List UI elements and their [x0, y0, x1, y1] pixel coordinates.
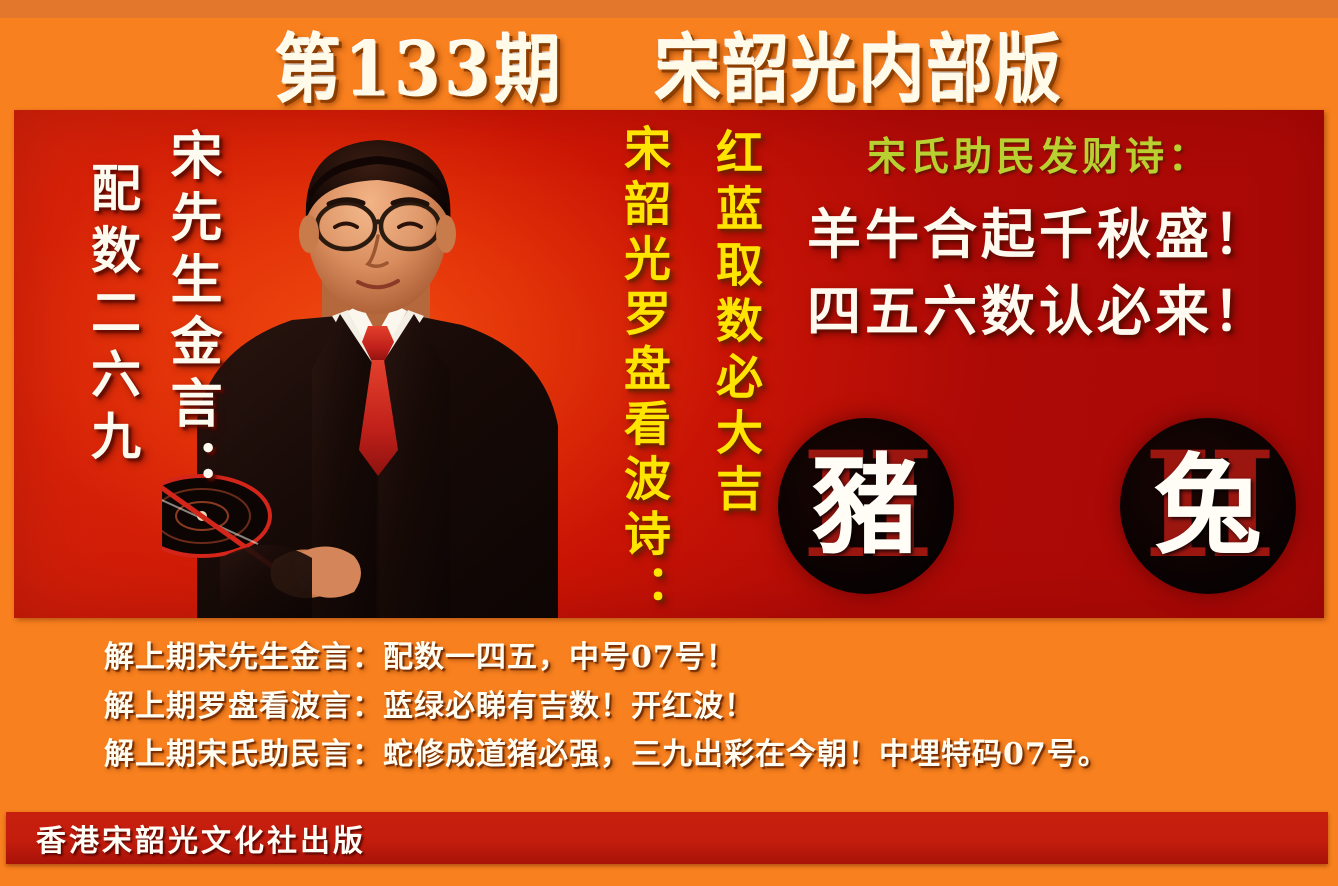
main-red-panel: 宋先生金言： 配数二六九 宋韶光罗盘看波诗： 红蓝取数必大吉: [14, 110, 1324, 618]
fortune-poem-block: 宋氏助民发财诗： 羊牛合起千秋盛！ 四五六数认必来！: [774, 126, 1304, 349]
publisher-footer-bar: 香港宋韶光文化社出版: [6, 812, 1328, 864]
edition-title: 宋韶光内部版: [655, 26, 1063, 113]
poem-heading: 宋氏助民发财诗：: [774, 126, 1304, 182]
poem-line-2: 四五六数认必来！: [774, 273, 1304, 350]
vertical-text-pairing-numbers: 配数二六九: [76, 162, 148, 472]
header-title: 第133期 宋韶光内部版: [275, 10, 1063, 118]
note-line-1: 解上期宋先生金言：配数一四五，中号07号！: [104, 634, 1244, 683]
publisher-name: 香港宋韶光文化社出版: [36, 816, 366, 860]
vertical-text-luopan-poem: 宋韶光罗盘看波诗：: [608, 124, 677, 618]
zodiac-circle-pig[interactable]: II 豬: [778, 418, 954, 594]
zodiac-circle-rabbit[interactable]: II 兔: [1120, 418, 1296, 594]
poster-root: 第133期 宋韶光内部版 宋先生金言： 配数二六九 宋韶光罗盘看波诗： 红蓝取数…: [0, 0, 1338, 886]
vertical-text-red-blue-lucky: 红蓝取数必大吉: [700, 128, 769, 520]
zodiac-glyph-rabbit: 兔: [1120, 452, 1296, 560]
note-line-3: 解上期宋氏助民言：蛇修成道猪必强，三九出彩在今朝！中埋特码07号。: [104, 731, 1244, 780]
poster-header: 第133期 宋韶光内部版: [0, 18, 1338, 110]
issue-label: 第133期: [275, 26, 565, 113]
note-line-2: 解上期罗盘看波言：蓝绿必睇有吉数！开红波！: [104, 683, 1244, 732]
vertical-text-mr-song-maxim: 宋先生金言：: [154, 128, 229, 500]
zodiac-circle-group: II 豬 II 兔: [774, 418, 1304, 613]
previous-issue-notes: 解上期宋先生金言：配数一四五，中号07号！ 解上期罗盘看波言：蓝绿必睇有吉数！开…: [104, 634, 1244, 780]
poem-line-1: 羊牛合起千秋盛！: [774, 196, 1304, 273]
zodiac-glyph-pig: 豬: [778, 452, 954, 560]
